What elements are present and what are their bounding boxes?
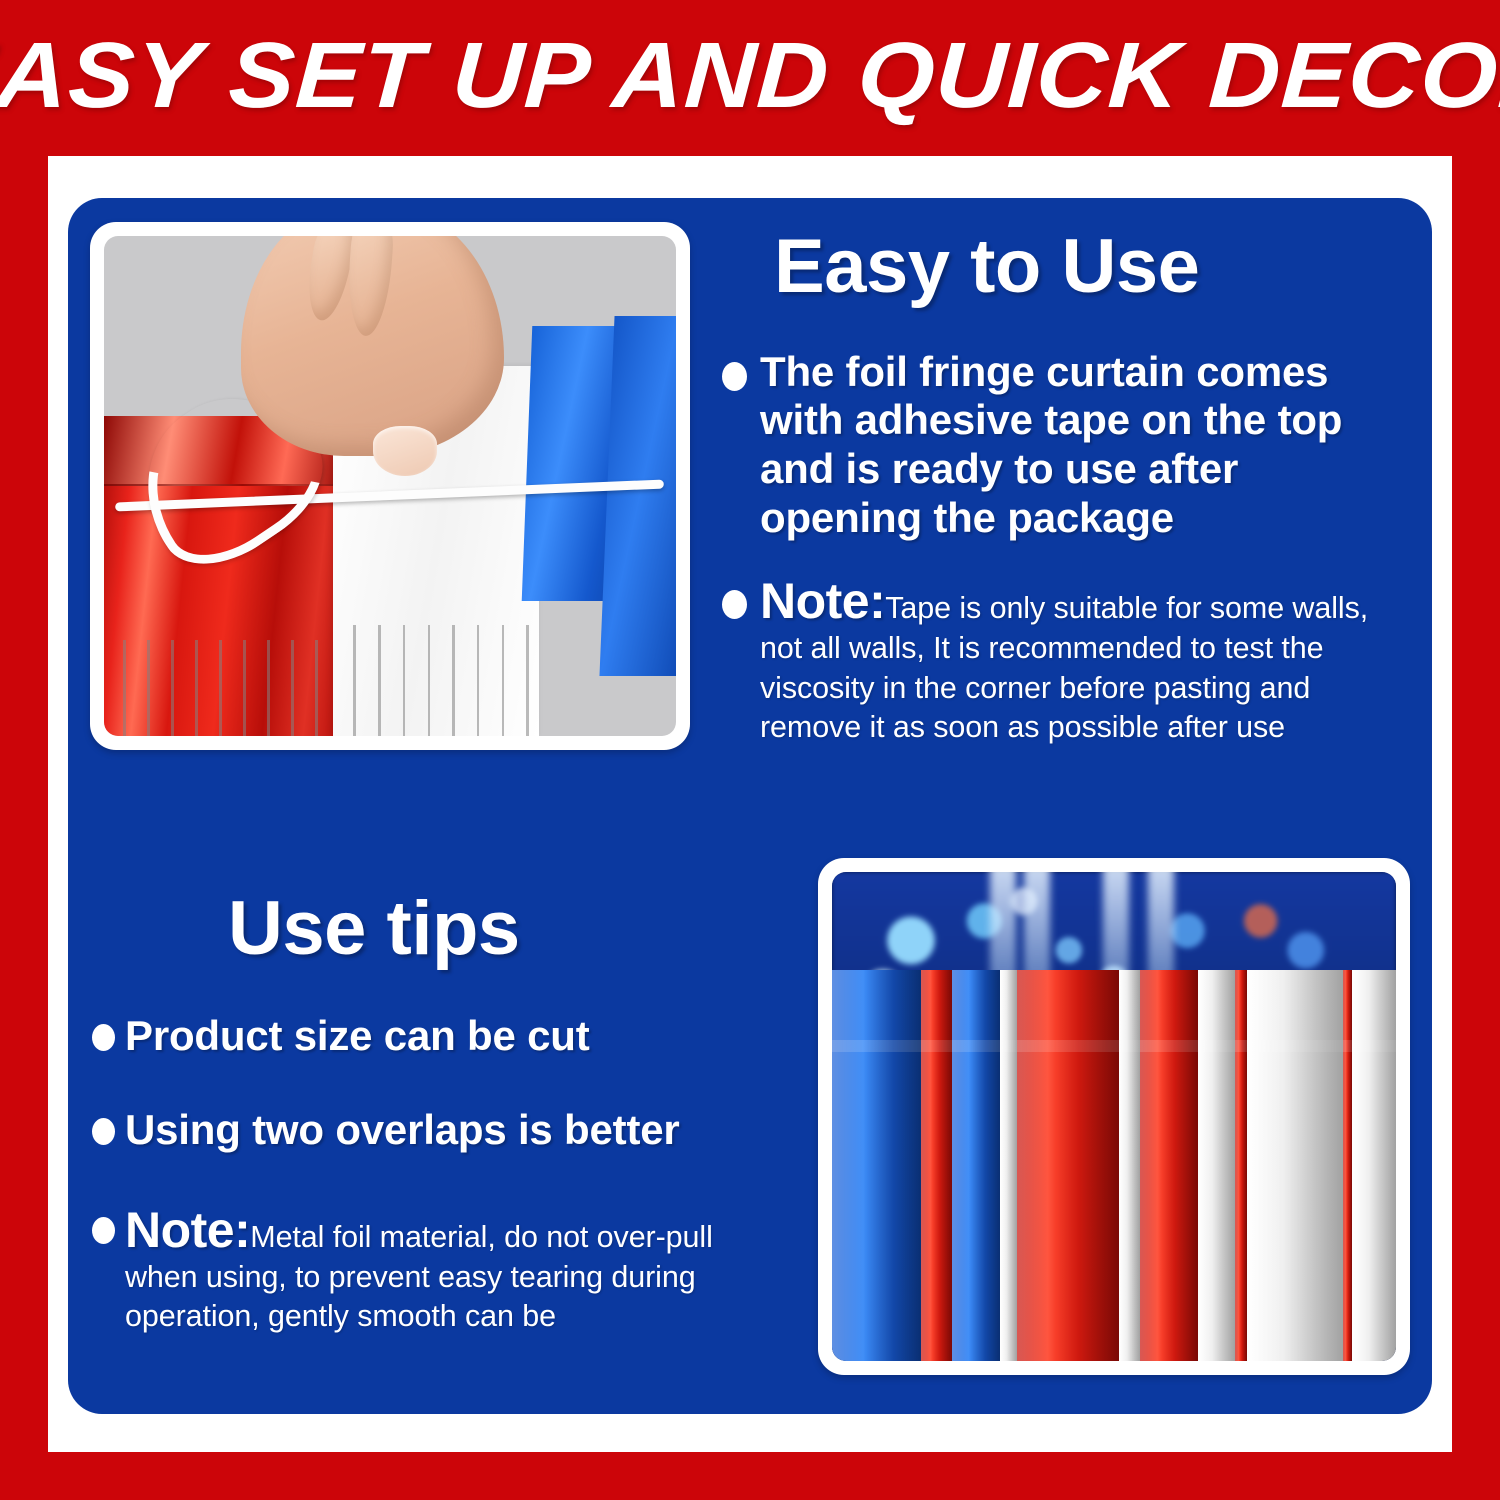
foil-strip-red-3	[1140, 970, 1198, 1361]
foil-strip-white-4	[1247, 970, 1343, 1361]
bullet-dot-icon	[92, 1118, 115, 1145]
photo-frame-fringe-curtain	[818, 858, 1410, 1375]
bullet-dot-icon	[92, 1217, 115, 1244]
fingernail	[373, 426, 437, 476]
foil-strip-white-5	[1352, 970, 1396, 1361]
red-fringe-cuts	[104, 640, 344, 736]
bullet-easy-to-use: The foil fringe curtain comes with adhes…	[722, 348, 1422, 543]
finger-thumb	[345, 236, 396, 337]
bullet-dot-icon	[722, 590, 747, 619]
tip-item-1: Product size can be cut	[92, 1012, 792, 1061]
photo-fringe-curtain	[832, 872, 1396, 1361]
foil-strip-blue-2	[952, 970, 1000, 1361]
photo-frame-adhesive-tape	[90, 222, 690, 750]
foil-strip-blue-1	[832, 970, 921, 1361]
foil-strip-red-4	[1235, 970, 1247, 1361]
header-banner: EASY SET UP AND QUICK DECOR	[0, 0, 1500, 156]
bullet-dot-icon	[722, 362, 747, 391]
hand-illustration	[241, 236, 504, 456]
note-use-tips-body: Note:Metal foil material, do not over-pu…	[125, 1205, 765, 1337]
note-easy-to-use-body: Note:Tape is only suitable for some wall…	[760, 576, 1392, 748]
foil-strip-red-5	[1343, 970, 1352, 1361]
white-fringe-cuts	[333, 625, 539, 736]
tape-scene-illustration	[104, 236, 676, 736]
tip-item-1-text: Product size can be cut	[125, 1012, 590, 1061]
fringe-scene-illustration	[832, 872, 1396, 1361]
foil-strip-white-2	[1119, 970, 1140, 1361]
bullet-dot-icon	[92, 1024, 115, 1051]
foil-strip-red-1	[921, 970, 952, 1361]
tip-item-2: Using two overlaps is better	[92, 1106, 792, 1155]
heading-use-tips: Use tips	[228, 890, 792, 968]
tip-item-2-text: Using two overlaps is better	[125, 1106, 680, 1155]
foil-strip-group	[832, 970, 1396, 1361]
note-easy-to-use: Note:Tape is only suitable for some wall…	[722, 576, 1422, 748]
bullet-easy-to-use-text: The foil fringe curtain comes with adhes…	[760, 348, 1388, 543]
infographic-page: EASY SET UP AND QUICK DECOR	[0, 0, 1500, 1500]
heading-easy-to-use: Easy to Use	[774, 228, 1422, 306]
note-label-top: Note:	[760, 573, 885, 629]
note-use-tips: Note:Metal foil material, do not over-pu…	[92, 1205, 792, 1337]
foil-strip-red-2	[1017, 970, 1120, 1361]
foil-strip-white-3	[1198, 970, 1236, 1361]
page-title: EASY SET UP AND QUICK DECOR	[0, 29, 1500, 128]
photo-adhesive-tape	[104, 236, 676, 736]
section-easy-to-use: Easy to Use The foil fringe curtain come…	[722, 228, 1422, 748]
note-label-bottom: Note:	[125, 1202, 250, 1258]
section-use-tips: Use tips Product size can be cut Using t…	[92, 890, 792, 1337]
foil-strip-white-1	[1000, 970, 1017, 1361]
